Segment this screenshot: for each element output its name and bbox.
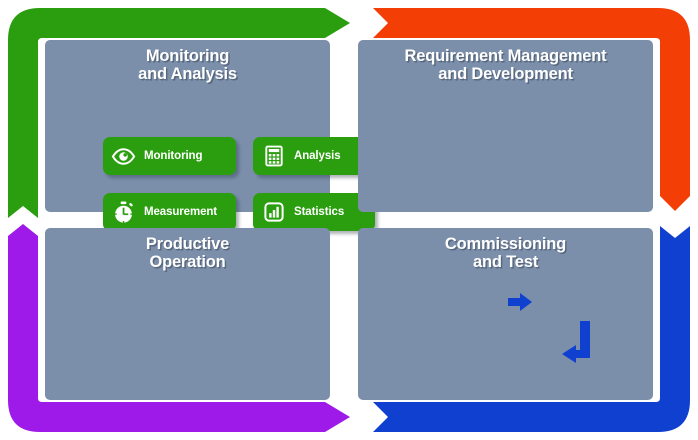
quadrant-title: Requirement Management and Development (358, 47, 653, 83)
item-statistics[interactable]: Statistics (253, 193, 375, 231)
item-measurement[interactable]: Measurement (103, 193, 236, 231)
quadrant-monitoring-and-analysis: Monitoring and Analysis Monitoring (45, 40, 330, 212)
blue-flow-connectors (358, 228, 653, 400)
connector-testing-elbow (580, 321, 590, 358)
diagram-canvas: Monitoring and Analysis Monitoring (0, 0, 698, 440)
quadrant-requirement-management-and-development: Requirement Management and Development D… (358, 40, 653, 212)
item-label: Monitoring (144, 150, 202, 163)
quadrant-title: Monitoring and Analysis (45, 47, 330, 83)
stopwatch-icon (110, 199, 137, 226)
item-label: Statistics (294, 206, 344, 219)
eye-icon (110, 143, 137, 170)
item-label: Analysis (294, 150, 341, 163)
quadrant-productive-operation: Productive Operation Controldesk (45, 228, 330, 400)
connector-commissioning-to-testing (508, 293, 532, 311)
bar-chart-icon (260, 199, 287, 226)
quadrant-commissioning-and-test: Commissioning and Test (358, 228, 653, 400)
quadrant-title: Productive Operation (45, 235, 330, 271)
calculator-icon (260, 143, 287, 170)
item-analysis[interactable]: Analysis (253, 137, 375, 175)
item-label: Measurement (144, 206, 217, 219)
item-monitoring[interactable]: Monitoring (103, 137, 236, 175)
